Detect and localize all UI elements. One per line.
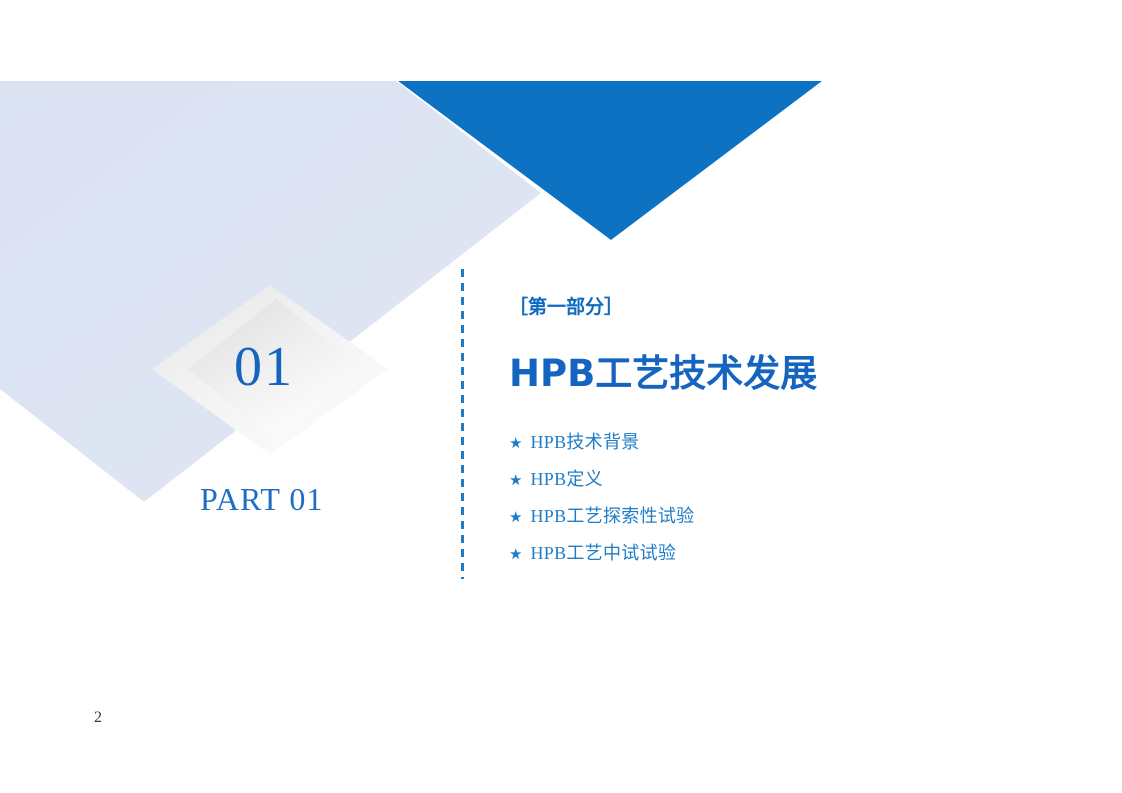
list-item[interactable]: ★ HPB定义 <box>509 465 1069 491</box>
list-item-label: HPB定义 <box>530 465 603 491</box>
slide-canvas: 01 PART 01 ［第一部分］ HPB工艺技术发展 ★ HPB技术背景 ★ … <box>0 0 1122 793</box>
star-icon: ★ <box>509 511 522 526</box>
part-number-text: 01 <box>234 339 294 395</box>
star-icon: ★ <box>509 474 522 489</box>
list-item[interactable]: ★ HPB工艺探索性试验 <box>509 502 1069 528</box>
section-tag: ［第一部分］ <box>509 296 1069 319</box>
section-title: HPB工艺技术发展 <box>509 353 1069 396</box>
list-item-label: HPB工艺中试试验 <box>530 539 676 565</box>
star-icon: ★ <box>509 437 522 452</box>
list-item[interactable]: ★ HPB技术背景 <box>509 428 1069 454</box>
part-number-badge: 01 <box>150 283 390 458</box>
list-item[interactable]: ★ HPB工艺中试试验 <box>509 539 1069 565</box>
list-item-label: HPB工艺探索性试验 <box>530 502 694 528</box>
star-icon: ★ <box>509 548 522 563</box>
blue-triangle-shape <box>398 81 822 240</box>
list-item-label: HPB技术背景 <box>530 428 639 454</box>
dashed-divider <box>461 269 464 579</box>
agenda-list: ★ HPB技术背景 ★ HPB定义 ★ HPB工艺探索性试验 ★ HPB工艺中试… <box>509 428 1069 565</box>
section-content: ［第一部分］ HPB工艺技术发展 ★ HPB技术背景 ★ HPB定义 ★ HPB… <box>509 296 1069 581</box>
page-number: 2 <box>94 709 102 727</box>
part-label: PART 01 <box>200 481 323 518</box>
